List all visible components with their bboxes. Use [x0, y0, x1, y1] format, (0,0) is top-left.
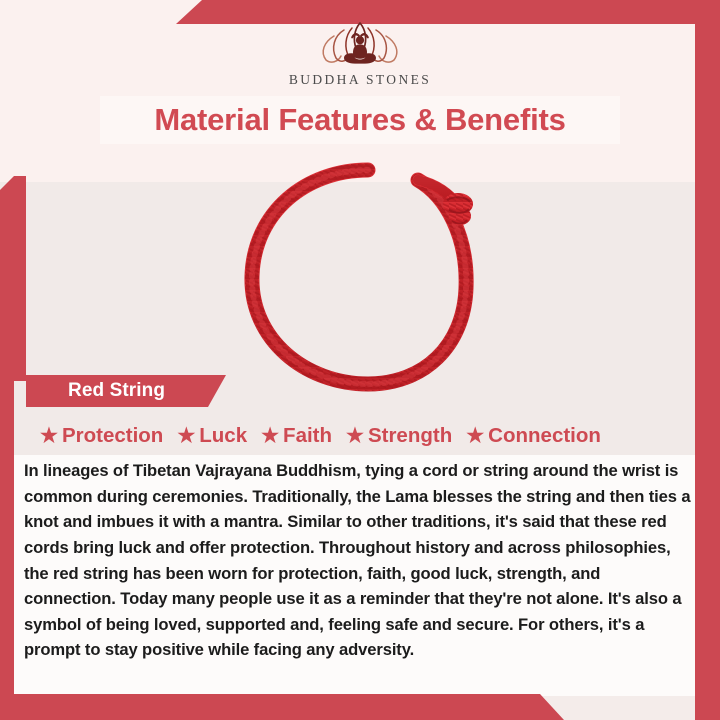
frame-left-lower-bar [0, 378, 14, 720]
benefit-label: Luck [199, 426, 247, 447]
star-icon: ★ [261, 426, 279, 446]
product-name-label: Red String [68, 380, 165, 402]
benefit-label: Connection [488, 426, 601, 447]
star-icon: ★ [40, 426, 58, 446]
infographic-canvas: BUDDHA STONES Material Features & Benefi… [0, 0, 720, 720]
star-icon: ★ [466, 426, 484, 446]
frame-right-bar [695, 0, 720, 720]
brand-name: BUDDHA STONES [289, 72, 431, 88]
lotus-meditation-icon [304, 20, 416, 70]
benefit-item-luck: ★ Luck [177, 426, 247, 447]
benefit-item-protection: ★ Protection [40, 426, 163, 447]
frame-left-upper-bar [0, 176, 26, 381]
benefit-item-faith: ★ Faith [261, 426, 332, 447]
brand-logo: BUDDHA STONES [0, 20, 720, 92]
benefit-item-strength: ★ Strength [346, 426, 452, 447]
benefit-label: Strength [368, 426, 452, 447]
red-braided-string-bracelet [232, 158, 504, 398]
star-icon: ★ [346, 426, 364, 446]
title-band: Material Features & Benefits [100, 96, 620, 144]
description-text: In lineages of Tibetan Vajrayana Buddhis… [24, 458, 696, 663]
star-icon: ★ [177, 426, 195, 446]
benefit-item-connection: ★ Connection [466, 426, 601, 447]
benefits-row: ★ Protection ★ Luck ★ Faith ★ Strength ★… [40, 420, 690, 452]
benefit-label: Faith [283, 426, 332, 447]
product-name-banner: Red String [26, 375, 226, 407]
benefit-label: Protection [62, 426, 163, 447]
page-title: Material Features & Benefits [154, 102, 565, 138]
